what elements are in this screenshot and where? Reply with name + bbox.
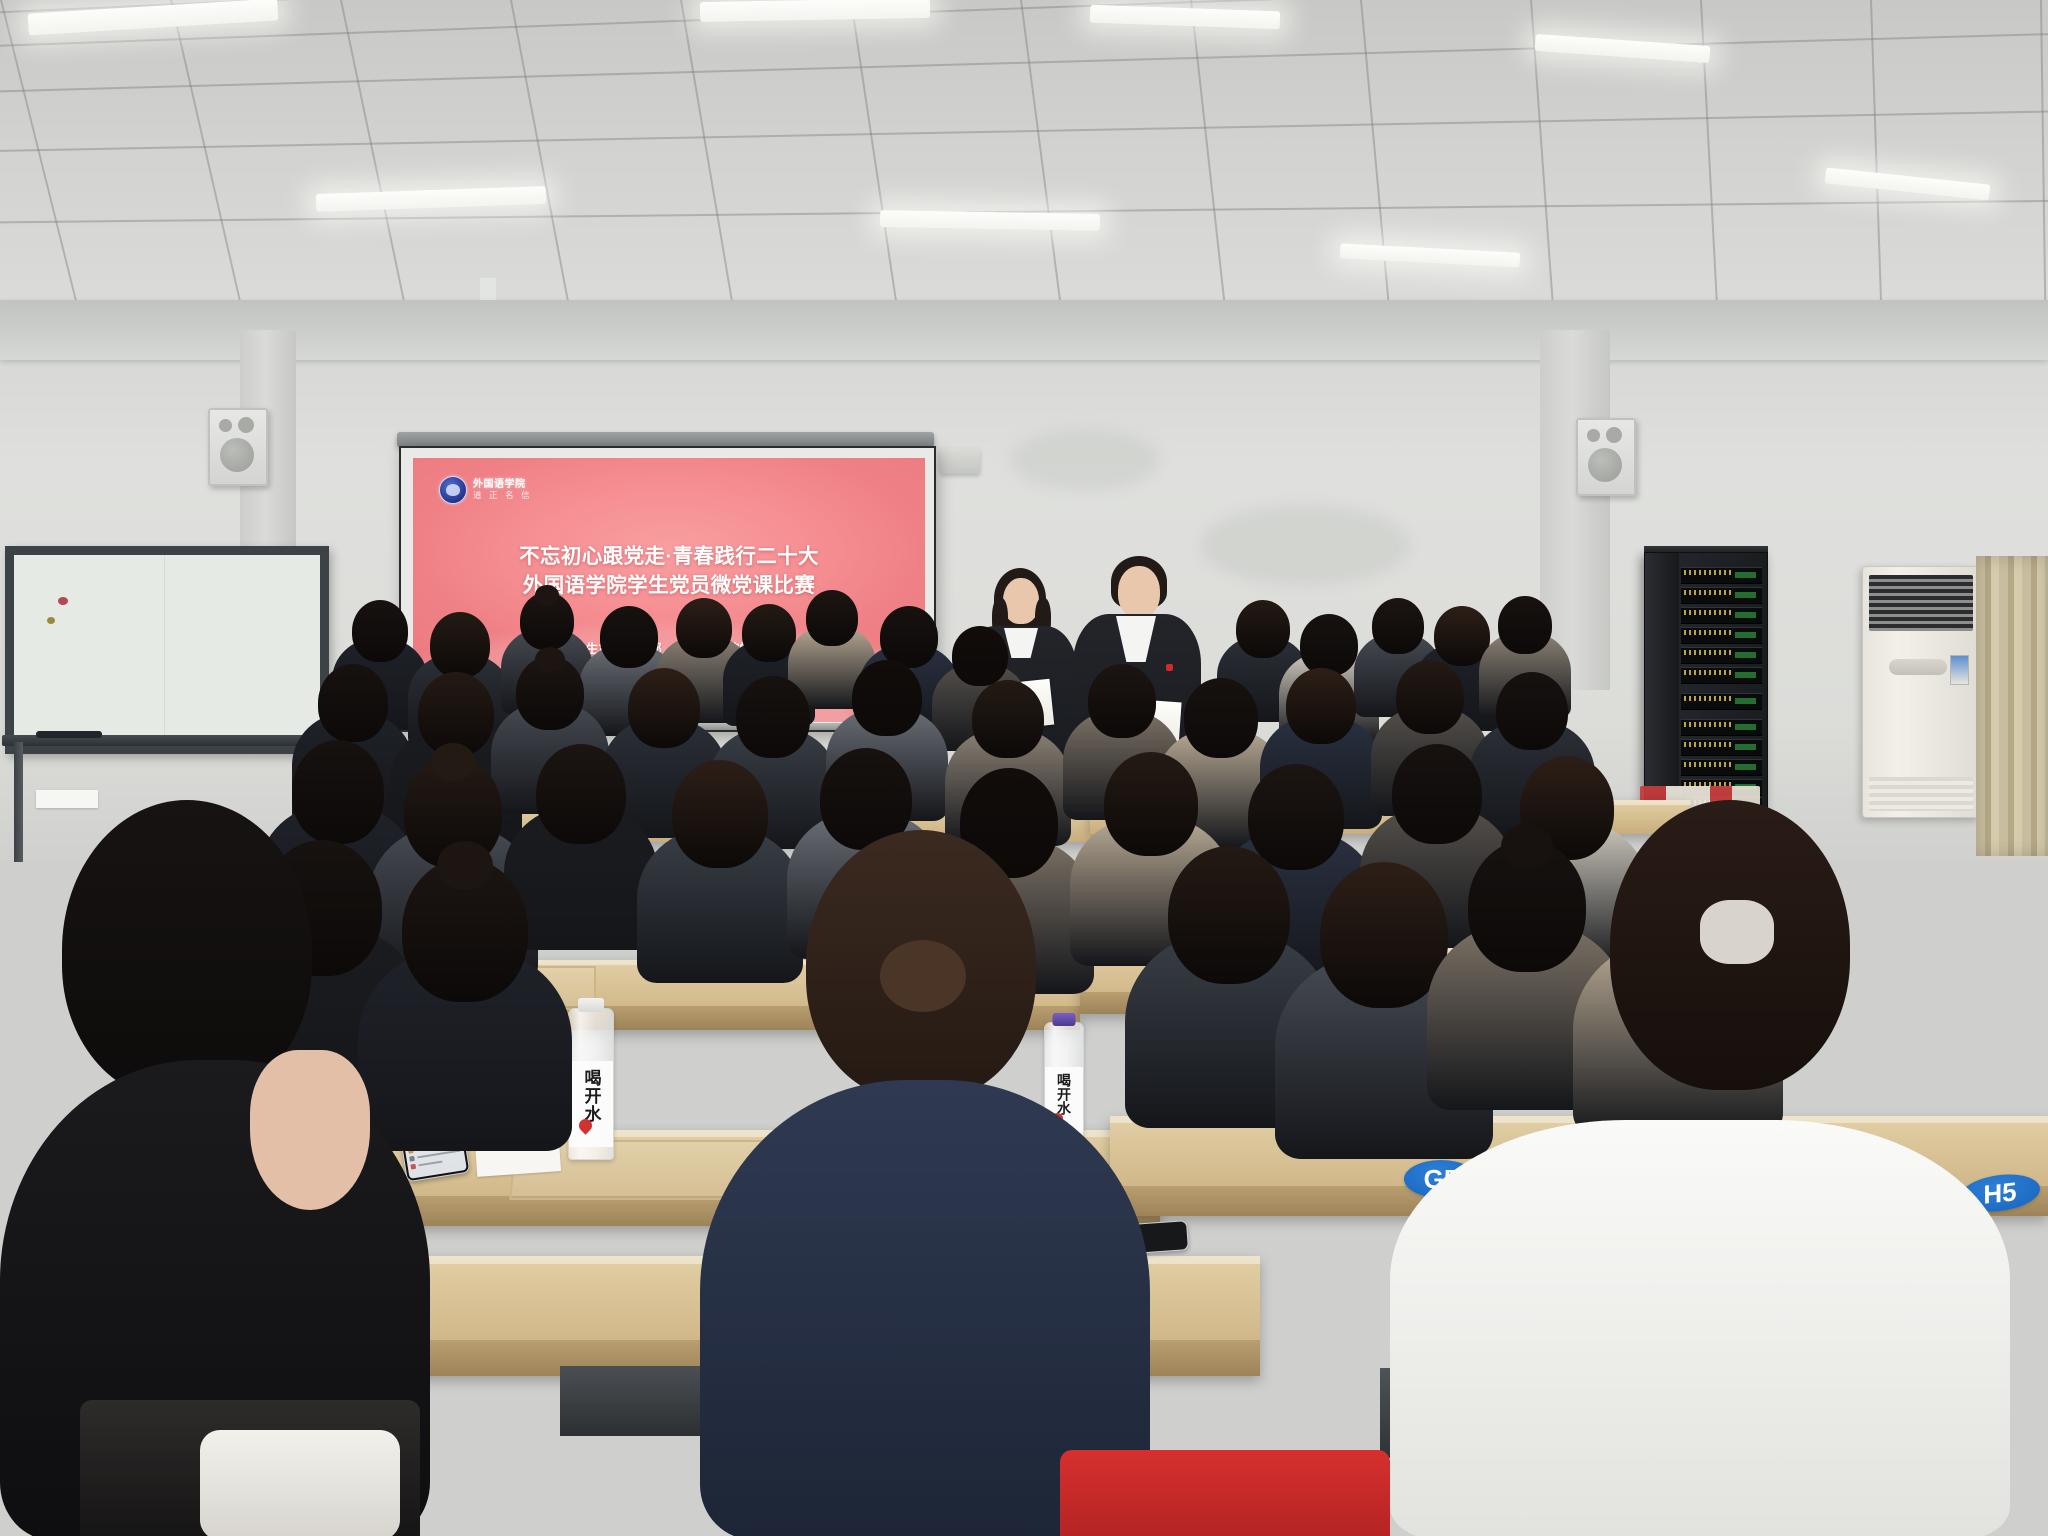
- person-hair: [430, 612, 490, 678]
- wall-mounted-sensor: [940, 448, 980, 474]
- person-hair: [1184, 678, 1258, 758]
- ceiling-tile-grid: [0, 0, 2048, 330]
- speaker-woofer: [1588, 448, 1622, 482]
- presenter-head: [1003, 578, 1039, 624]
- whiteboard-leg: [14, 742, 23, 862]
- window-curtain: [1976, 556, 2048, 856]
- person-hair: [806, 590, 858, 646]
- air-conditioner: [1862, 566, 1980, 818]
- bottle-brand-text: 喝开水: [1054, 1073, 1074, 1115]
- slide-logo-motto: 道 正 名 信: [473, 491, 532, 500]
- person-hair: [736, 676, 810, 758]
- bottle-cap: [1053, 1013, 1076, 1026]
- projection-screen-case: [397, 432, 934, 447]
- person-hair: [318, 664, 388, 742]
- person-hair: [1248, 764, 1344, 870]
- slide-title: 不忘初心跟党走·青春践行二十大 外国语学院学生党员微党课比赛: [413, 542, 925, 600]
- speaker-tweeter: [1587, 429, 1600, 442]
- hair-clip-icon: [1700, 900, 1774, 964]
- person-hair: [880, 606, 938, 668]
- person-hair: [1320, 862, 1448, 1008]
- university-emblem-icon: [439, 476, 467, 504]
- water-bottle[interactable]: 喝开水: [568, 1008, 614, 1160]
- whiteboard-magnet: [58, 597, 68, 605]
- ceiling: [0, 0, 2048, 330]
- person-hair: [1498, 596, 1552, 654]
- bottle-brand-text: 喝开水: [579, 1069, 604, 1123]
- person-hair: [62, 800, 312, 1100]
- whiteboard-marker: [36, 731, 102, 738]
- ac-base-vent: [1869, 777, 1973, 811]
- ac-brand-badge: [1889, 659, 1947, 675]
- network-server-rack: [1644, 552, 1768, 816]
- person-hair: [1286, 668, 1356, 744]
- person-hair: [852, 660, 922, 736]
- bottle-cap: [578, 998, 604, 1012]
- wall-stain: [1010, 430, 1160, 490]
- bottle-label: 喝开水: [569, 1061, 613, 1147]
- red-jacket: [1060, 1450, 1390, 1536]
- ac-energy-label: [1950, 655, 1969, 685]
- person-hair: [1168, 846, 1290, 984]
- person-hair: [1396, 660, 1464, 734]
- person-hair: [952, 626, 1008, 686]
- person-hair: [1392, 744, 1482, 844]
- person-hair: [1300, 614, 1358, 676]
- person-hair-bun: [880, 940, 966, 1012]
- person-hair: [628, 668, 700, 748]
- person-hair: [742, 604, 796, 662]
- slide-logo: 外国语学院 道 正 名 信: [439, 476, 532, 504]
- person-hair: [1236, 600, 1290, 658]
- person-hair: [352, 600, 408, 662]
- slide-logo-text: 外国语学院 道 正 名 信: [473, 480, 532, 499]
- wall-speaker-left: [208, 408, 268, 486]
- red-party-pin-icon: [1166, 664, 1173, 671]
- speaker-tweeter: [238, 417, 254, 433]
- person-hair: [1088, 664, 1156, 738]
- person-hair: [600, 606, 658, 668]
- person-hand: [250, 1050, 370, 1210]
- speaker-tweeter: [1606, 427, 1622, 443]
- wall-speaker-right: [1576, 418, 1636, 496]
- person-hair-bun: [431, 743, 474, 781]
- person-hair-bun: [535, 585, 559, 605]
- person-hair: [972, 680, 1044, 758]
- handout-paper[interactable]: [36, 790, 98, 808]
- wall-stain: [1200, 505, 1410, 585]
- person-hair: [676, 598, 732, 658]
- wall-soffit-beam: [0, 300, 2048, 360]
- classroom-photo-scene: 外国语学院 道 正 名 信 不忘初心跟党走·青春践行二十大 外国语学院学生党员微…: [0, 0, 2048, 1536]
- person-hair: [536, 744, 626, 844]
- ac-air-grill: [1869, 575, 1973, 631]
- person-hair-bun: [1501, 824, 1553, 869]
- person-hair-bun: [437, 841, 492, 890]
- slide-title-line1: 不忘初心跟党走·青春践行二十大: [413, 542, 925, 571]
- person-hair-bun: [535, 647, 565, 672]
- speaker-woofer: [220, 438, 254, 472]
- person-hair: [672, 760, 768, 868]
- presenter-head: [1118, 566, 1160, 618]
- person-hair: [292, 740, 384, 844]
- person-hair: [1104, 752, 1198, 856]
- whiteboard-magnet: [47, 617, 55, 624]
- person-hair: [1496, 672, 1568, 750]
- rack-side-panel: [1645, 553, 1679, 815]
- white-bag: [200, 1430, 400, 1536]
- whiteboard: [5, 546, 329, 754]
- person-hair: [1372, 598, 1424, 654]
- speaker-tweeter: [219, 419, 232, 432]
- person-torso: [1390, 1120, 2010, 1536]
